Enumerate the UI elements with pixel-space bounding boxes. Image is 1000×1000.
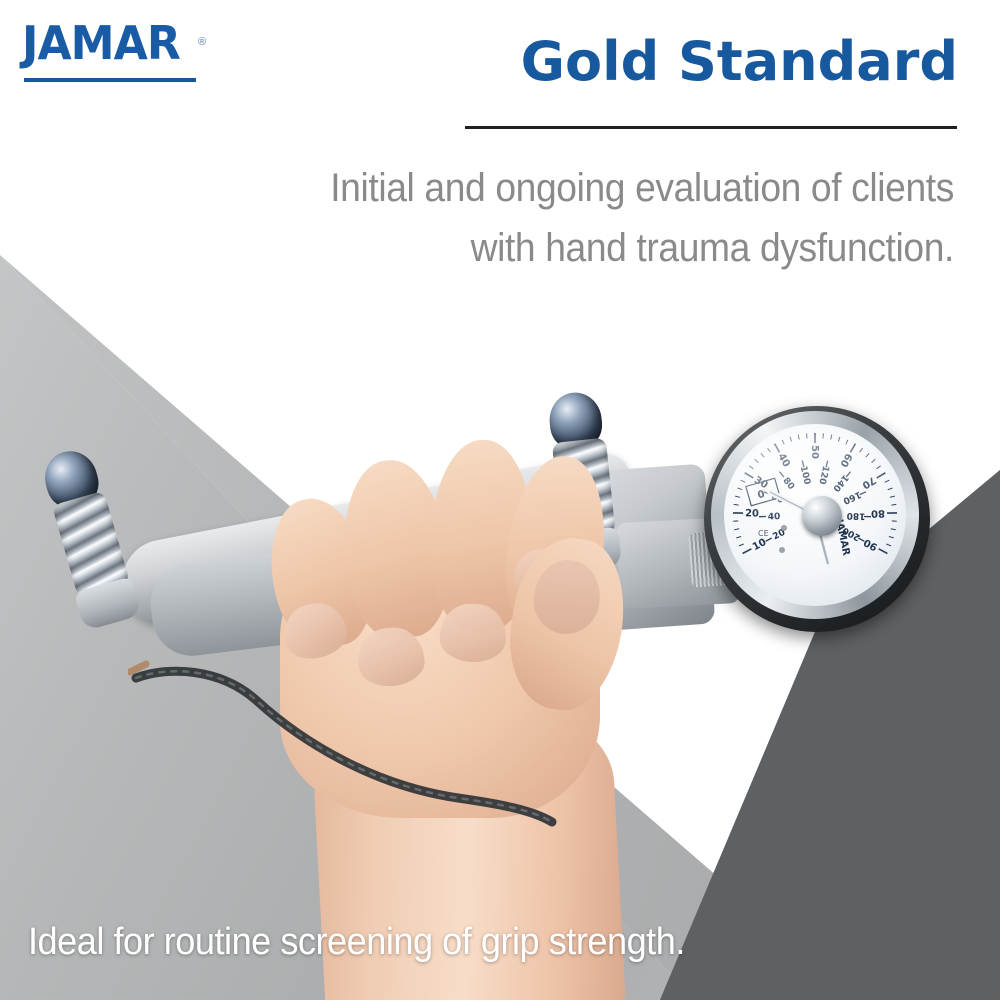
jamar-logo: JAMAR ® [22,22,222,66]
svg-text:90: 90 [862,536,879,552]
gauge-screw-upper [781,525,787,531]
subtitle-line-1: Initial and ongoing evaluation of client… [145,158,954,218]
gauge-glass-glare [736,432,886,524]
promo-image: 102030405060708090 204060801001201401601… [0,0,1000,1000]
gauge-screw-lower [779,547,785,553]
page-title: Gold Standard [521,30,958,93]
logo-underline [24,78,196,82]
subtitle: Initial and ongoing evaluation of client… [145,158,954,278]
registered-trademark-icon: ® [198,36,206,48]
svg-text:10: 10 [751,537,768,553]
title-divider [465,126,957,129]
subtitle-line-2: with hand trauma dysfunction. [145,218,954,278]
pressure-gauge: 102030405060708090 204060801001201401601… [704,406,930,632]
gauge-ce-mark: CE [758,529,769,538]
hand-gripping-device [262,398,618,818]
svg-text:80: 80 [871,507,885,518]
jamar-logo-wordmark: JAMAR [22,22,214,66]
header-band: JAMAR ® Gold Standard Initial and ongoin… [0,0,1000,270]
gauge-dial-face: 102030405060708090 204060801001201401601… [724,424,906,606]
footer-caption: Ideal for routine screening of grip stre… [28,921,685,964]
grip-post-left [39,444,143,631]
